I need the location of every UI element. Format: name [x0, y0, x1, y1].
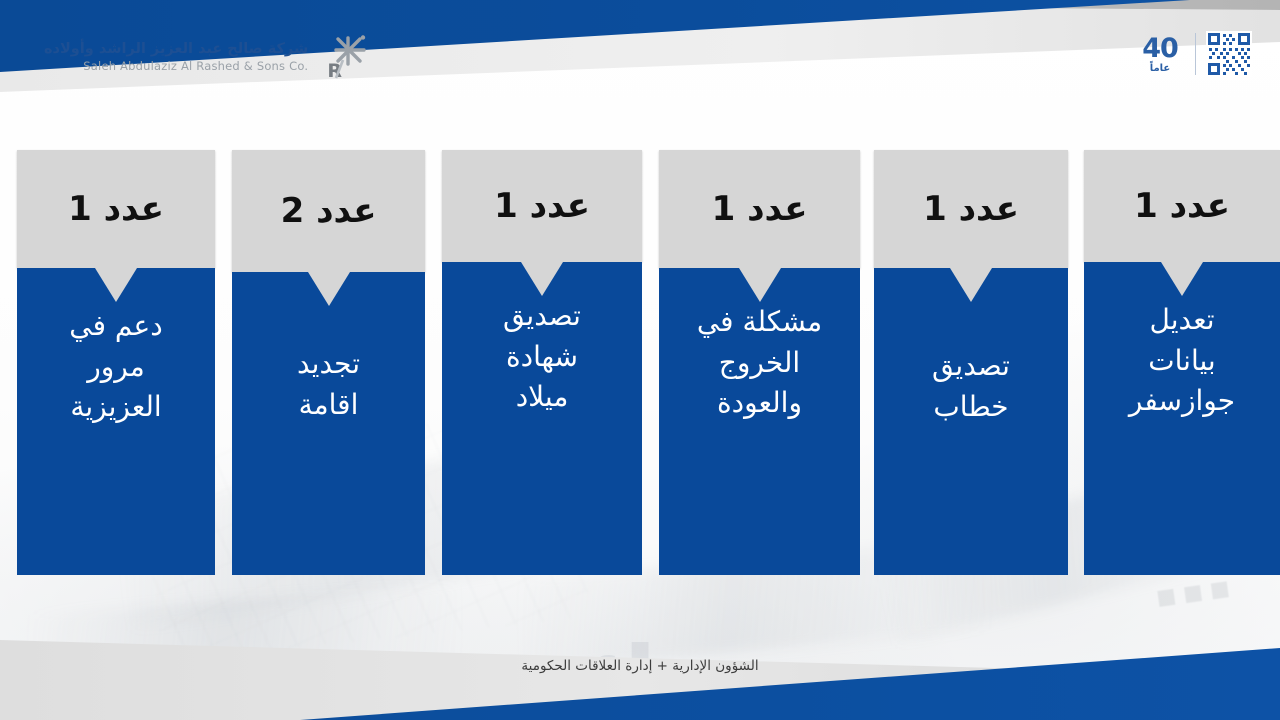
- card-notch-arrow-icon: [950, 268, 992, 302]
- sar-logo-mark-icon: S R: [318, 34, 374, 80]
- background-streak: [28, 585, 463, 695]
- service-card[interactable]: عدد 1دعم في مرور العزيزية: [17, 150, 215, 575]
- qr-code-icon: [1206, 31, 1252, 77]
- bottom-light-band: [0, 610, 1280, 720]
- service-card[interactable]: عدد 1تصديق خطاب: [874, 150, 1068, 575]
- anniversary-40-icon: 40 عاماً: [1135, 28, 1185, 80]
- company-logo: S R شركة صالح عبد العزيز الراشد وأولاده …: [44, 34, 374, 80]
- service-card-header: عدد 1: [442, 150, 642, 262]
- service-card-body: دعم في مرور العزيزية: [17, 268, 215, 575]
- service-card-count-label: عدد 1: [1134, 189, 1230, 223]
- footer-caption: الشؤون الإدارية + إدارة العلاقات الحكومي…: [0, 658, 1280, 674]
- service-card-body: تجديد اقامة: [232, 272, 425, 575]
- ghost-watermark-text: خصائص: [0, 626, 1280, 720]
- service-card-body: مشكلة في الخروج والعودة: [659, 268, 860, 575]
- service-card-body: تصديق شهادة ميلاد: [442, 262, 642, 575]
- slide-canvas: خصائص S R شركة صالح عبد العزيز الراش: [0, 0, 1280, 720]
- service-card-header: عدد 1: [874, 150, 1068, 268]
- cards-row: عدد 1تعديل بيانات جوازسفرعدد 1تصديق خطاب…: [0, 150, 1280, 575]
- service-card[interactable]: عدد 1تعديل بيانات جوازسفر: [1084, 150, 1280, 575]
- anniversary-and-qr: 40 عاماً: [1135, 28, 1252, 80]
- company-name-english: Saleh Abdulaziz Al Rashed & Sons Co.: [83, 60, 308, 73]
- service-card-body: تعديل بيانات جوازسفر: [1084, 262, 1280, 575]
- anniversary-label: عاماً: [1150, 63, 1171, 74]
- service-card-count-label: عدد 1: [712, 192, 808, 226]
- service-card-header: عدد 1: [1084, 150, 1280, 262]
- card-notch-arrow-icon: [308, 272, 350, 306]
- card-notch-arrow-icon: [739, 268, 781, 302]
- service-card[interactable]: عدد 1تصديق شهادة ميلاد: [442, 150, 642, 575]
- service-card-count-label: عدد 1: [923, 192, 1019, 226]
- service-card-body: تصديق خطاب: [874, 268, 1068, 575]
- background-dots: [1157, 579, 1244, 607]
- svg-text:S: S: [318, 60, 319, 80]
- service-card-header: عدد 2: [232, 150, 425, 272]
- service-card-header: عدد 1: [17, 150, 215, 268]
- company-name-arabic: شركة صالح عبد العزيز الراشد وأولاده: [44, 41, 308, 58]
- service-card-count-label: عدد 1: [494, 189, 590, 223]
- service-card[interactable]: عدد 1مشكلة في الخروج والعودة: [659, 150, 860, 575]
- service-card-count-label: عدد 1: [68, 192, 164, 226]
- company-logo-text: شركة صالح عبد العزيز الراشد وأولاده Sale…: [44, 41, 308, 73]
- card-notch-arrow-icon: [95, 268, 137, 302]
- anniversary-number: 40: [1142, 35, 1178, 62]
- card-notch-arrow-icon: [1161, 262, 1203, 296]
- service-card-count-label: عدد 2: [281, 194, 377, 228]
- card-notch-arrow-icon: [521, 262, 563, 296]
- service-card[interactable]: عدد 2تجديد اقامة: [232, 150, 425, 575]
- bottom-blue-band: [0, 634, 1280, 720]
- service-card-header: عدد 1: [659, 150, 860, 268]
- logo-divider: [1195, 33, 1196, 75]
- bottom-gray-band: [0, 610, 1280, 720]
